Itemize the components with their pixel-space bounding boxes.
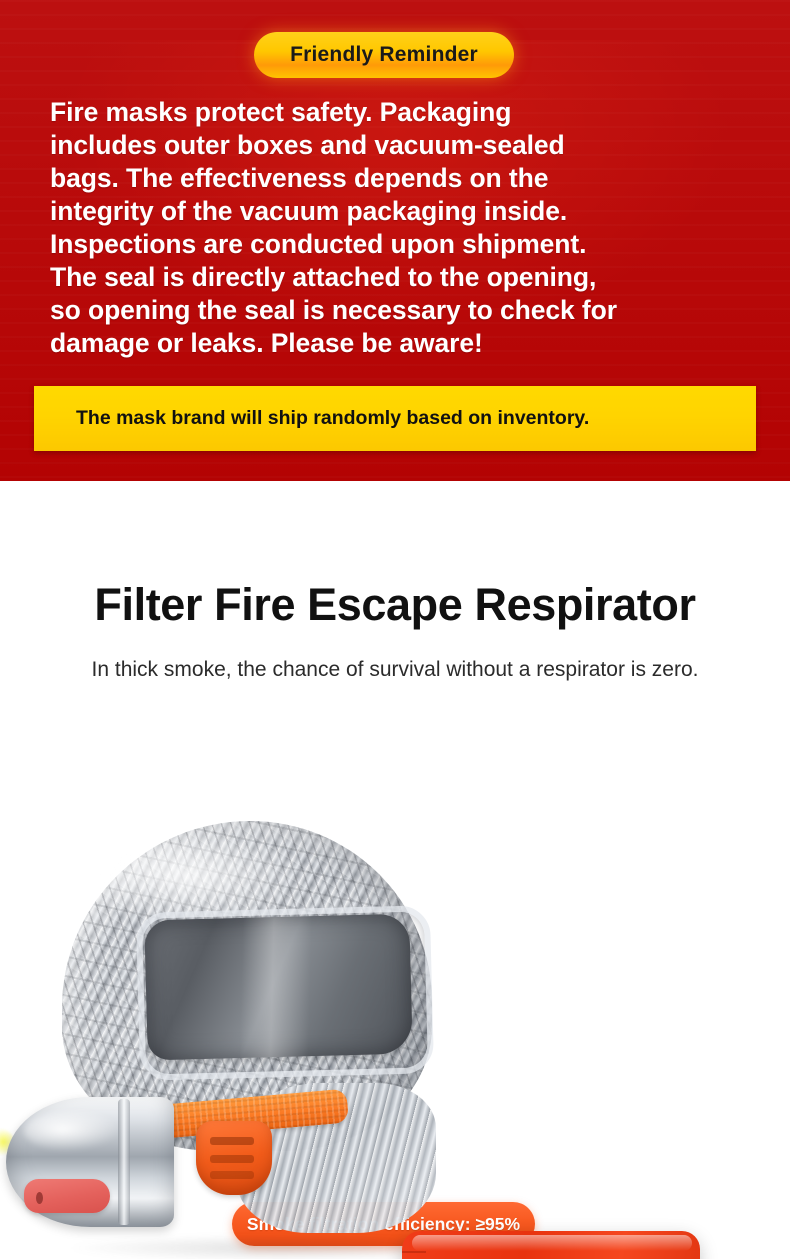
- notice-section: Friendly Reminder Fire masks protect saf…: [0, 0, 790, 481]
- canister-highlight: [24, 1111, 120, 1151]
- notice-line: bags. The effectiveness depends on the: [50, 162, 750, 195]
- hood-visor: [144, 914, 413, 1061]
- hood-highlight: [102, 839, 312, 929]
- notice-line: so opening the seal is necessary to chec…: [50, 294, 750, 327]
- canister-tab-hole: [36, 1192, 43, 1204]
- retail-box-edge: [402, 1245, 426, 1259]
- notice-body: Fire masks protect safety. Packaging inc…: [50, 96, 750, 360]
- canister-seam: [118, 1099, 130, 1225]
- inventory-banner: The mask brand will ship randomly based …: [34, 386, 756, 451]
- friendly-reminder-label: Friendly Reminder: [290, 43, 478, 67]
- canister-pull-tab: [24, 1179, 110, 1213]
- notice-line: includes outer boxes and vacuum-sealed: [50, 129, 750, 162]
- product-subtitle: In thick smoke, the chance of survival w…: [0, 658, 790, 682]
- page-title: Filter Fire Escape Respirator: [0, 579, 790, 631]
- strap-buckle: [196, 1121, 272, 1195]
- notice-line: damage or leaks. Please be aware!: [50, 327, 750, 360]
- product-section: Filter Fire Escape Respirator In thick s…: [0, 481, 790, 1259]
- inventory-banner-label: The mask brand will ship randomly based …: [34, 407, 589, 430]
- filter-canister: [6, 1097, 174, 1227]
- notice-line: The seal is directly attached to the ope…: [50, 261, 750, 294]
- retail-box: 威 备家安 CCC TZL30B(火灾逃生面具) 过滤式消防自救呼吸器 TZL3…: [402, 1231, 700, 1259]
- friendly-reminder-badge: Friendly Reminder: [254, 32, 514, 78]
- notice-line: Fire masks protect safety. Packaging: [50, 96, 750, 129]
- product-photo: 威 备家安 CCC TZL30B(火灾逃生面具) 过滤式消防自救呼吸器 TZL3…: [0, 811, 790, 1259]
- retail-box-shine: [412, 1235, 692, 1251]
- notice-line: Inspections are conducted upon shipment.: [50, 228, 750, 261]
- notice-line: integrity of the vacuum packaging inside…: [50, 195, 750, 228]
